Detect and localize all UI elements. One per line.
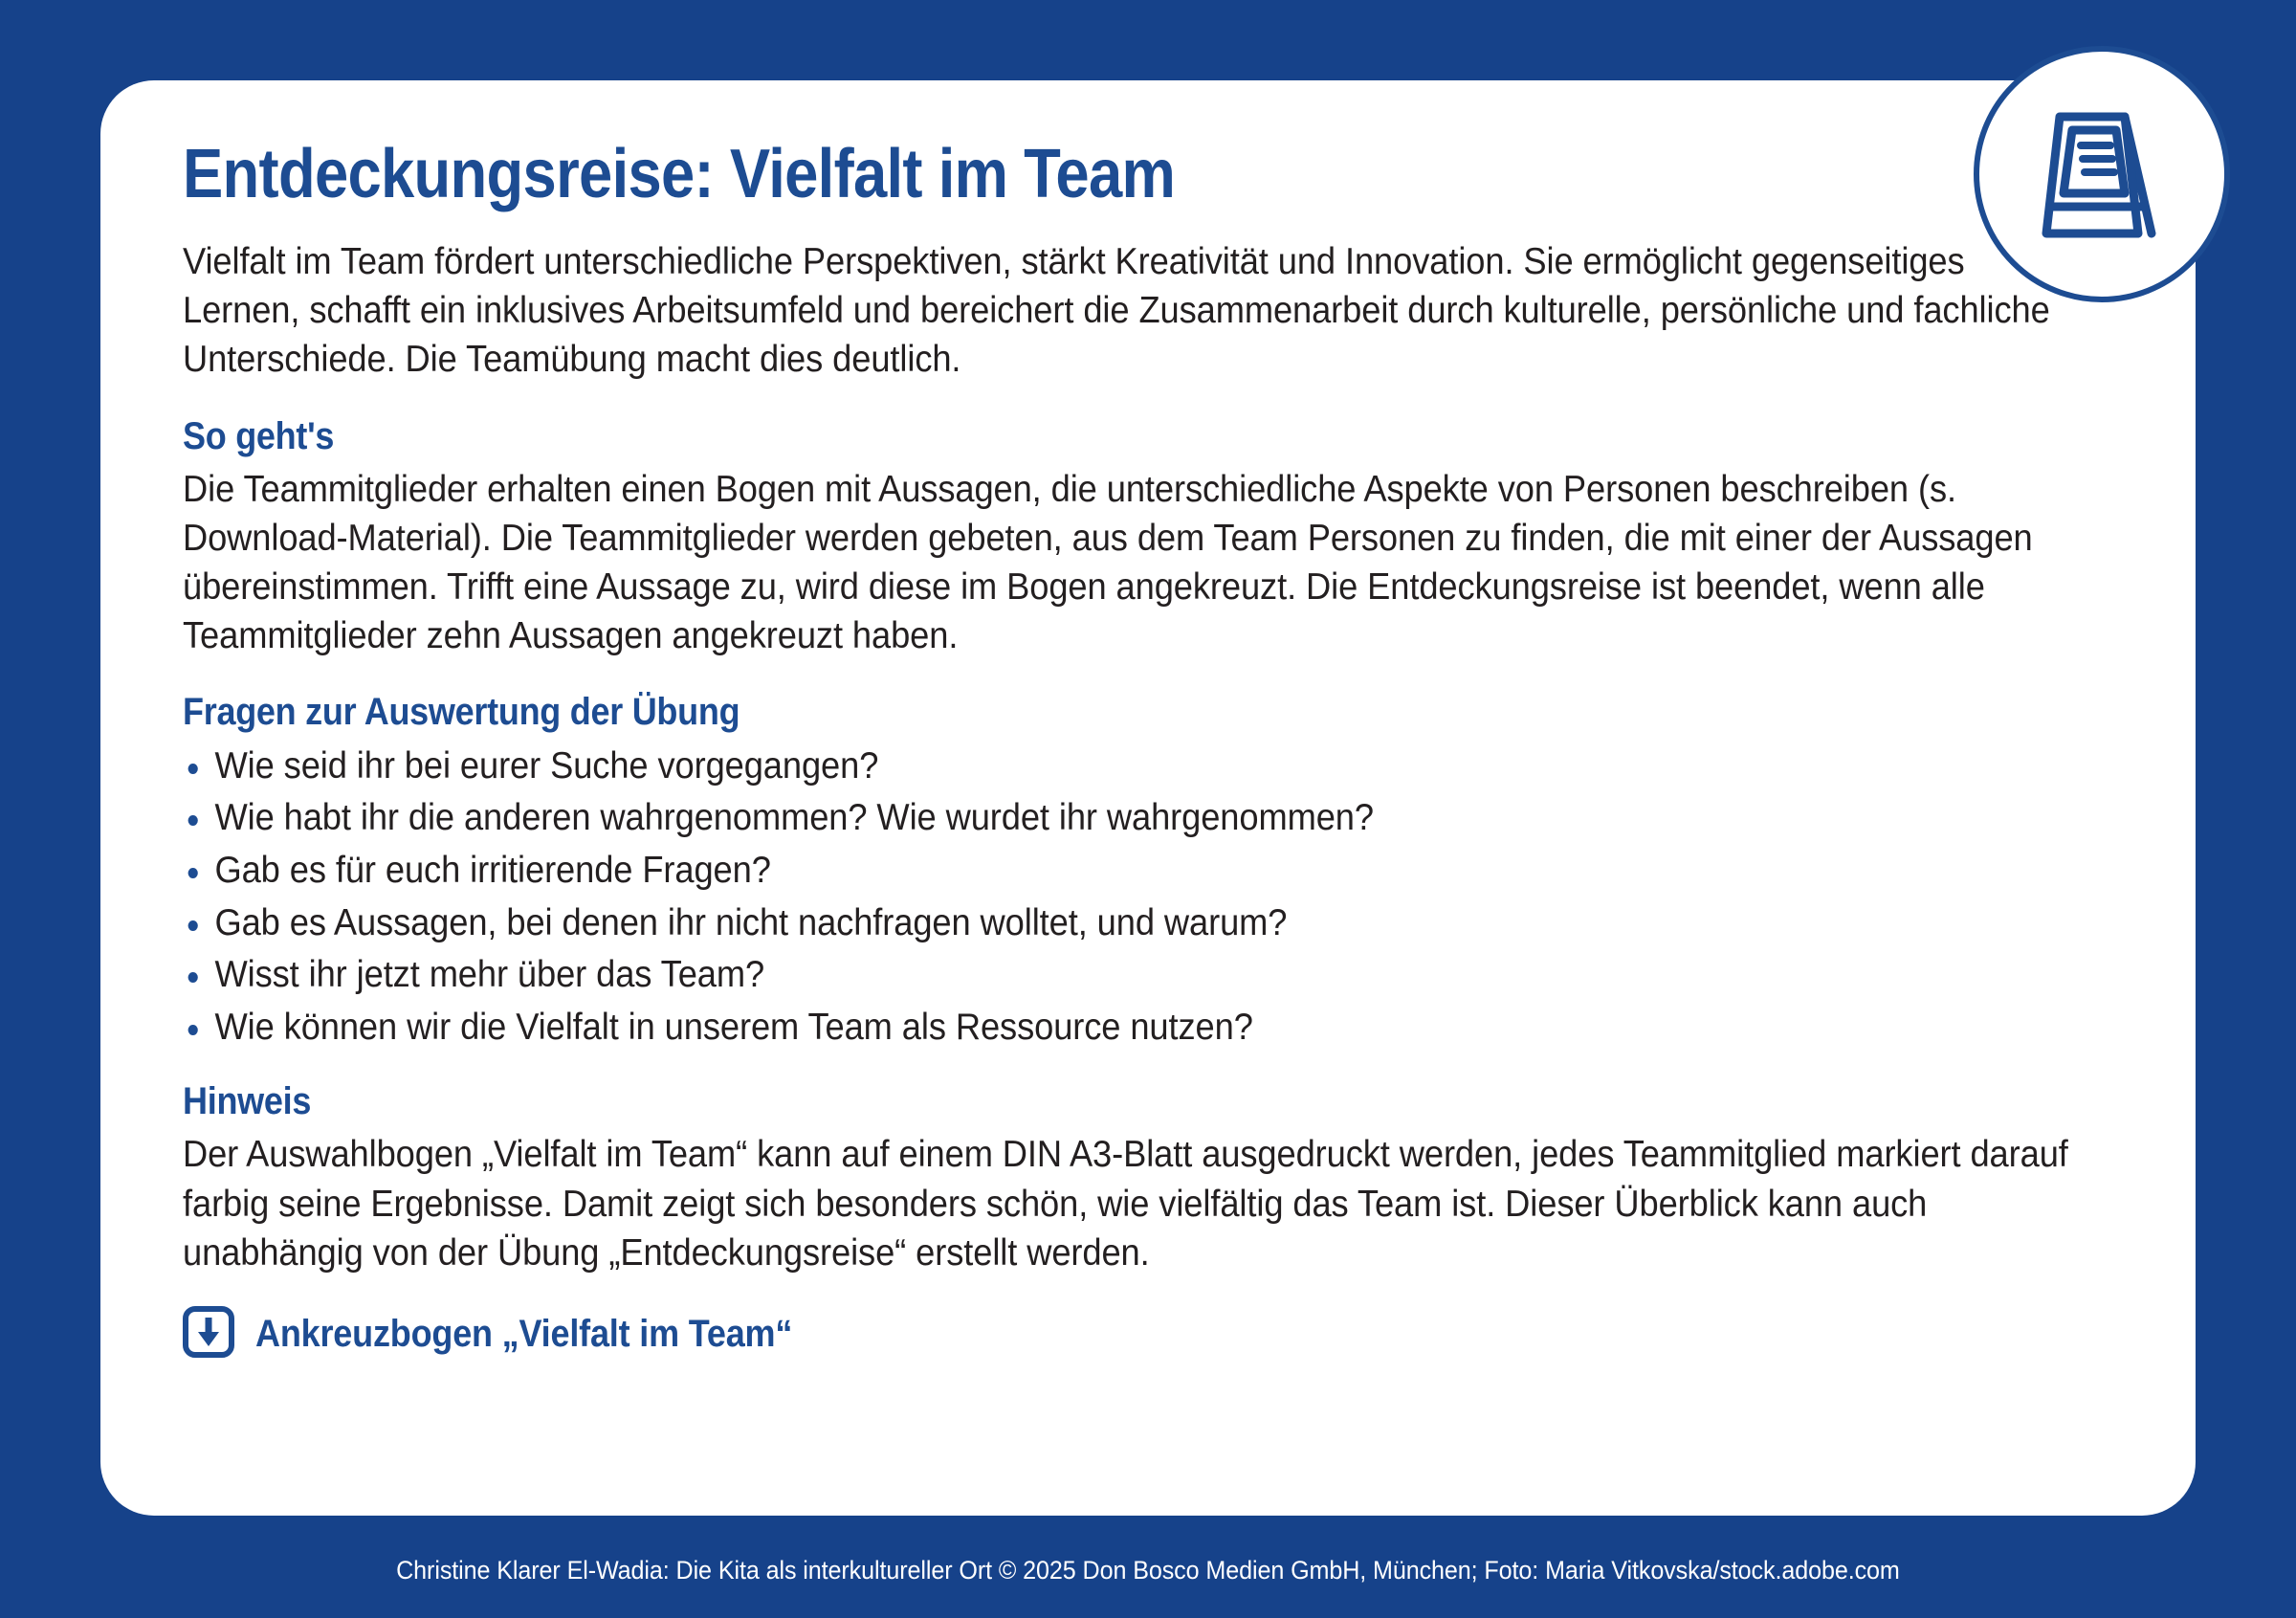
intro-paragraph: Vielfalt im Team fördert unterschiedlich… (183, 237, 2081, 384)
how-to-paragraph: Die Teammitglieder erhalten einen Bogen … (183, 465, 2081, 660)
download-icon[interactable] (183, 1306, 234, 1363)
list-item: Wie habt ihr die anderen wahrgenommen? W… (183, 792, 2081, 845)
list-item: Gab es für euch irritierende Fragen? (183, 845, 2081, 898)
list-item: Wie können wir die Vielfalt in unserem T… (183, 1002, 2081, 1054)
section-heading-questions: Fragen zur Auswertung der Übung (183, 689, 1891, 735)
list-item: Wie seid ihr bei eurer Suche vorgegangen… (183, 741, 2081, 793)
note-paragraph: Der Auswahlbogen „Vielfalt im Team“ kann… (183, 1130, 2081, 1276)
section-heading-how-to: So geht's (183, 413, 1891, 459)
worksheet-page: Entdeckungsreise: Vielfalt im Team Vielf… (0, 0, 2296, 1618)
content-card: Entdeckungsreise: Vielfalt im Team Vielf… (100, 80, 2196, 1516)
flipchart-easel-icon (1974, 46, 2230, 302)
list-item: Gab es Aussagen, bei denen ihr nicht nac… (183, 898, 2081, 950)
page-title: Entdeckungsreise: Vielfalt im Team (183, 138, 1853, 211)
list-item: Wisst ihr jetzt mehr über das Team? (183, 949, 2081, 1002)
download-link[interactable]: Ankreuzbogen „Vielfalt im Team“ (183, 1306, 2081, 1363)
section-heading-note: Hinweis (183, 1078, 1891, 1124)
content-body: Entdeckungsreise: Vielfalt im Team Vielf… (183, 138, 2081, 1363)
download-label[interactable]: Ankreuzbogen „Vielfalt im Team“ (255, 1313, 792, 1356)
footer-credit: Christine Klarer El-Wadia: Die Kita als … (0, 1556, 2296, 1585)
questions-list: Wie seid ihr bei eurer Suche vorgegangen… (183, 741, 2081, 1054)
footer-credit-text: Christine Klarer El-Wadia: Die Kita als … (396, 1556, 1900, 1585)
